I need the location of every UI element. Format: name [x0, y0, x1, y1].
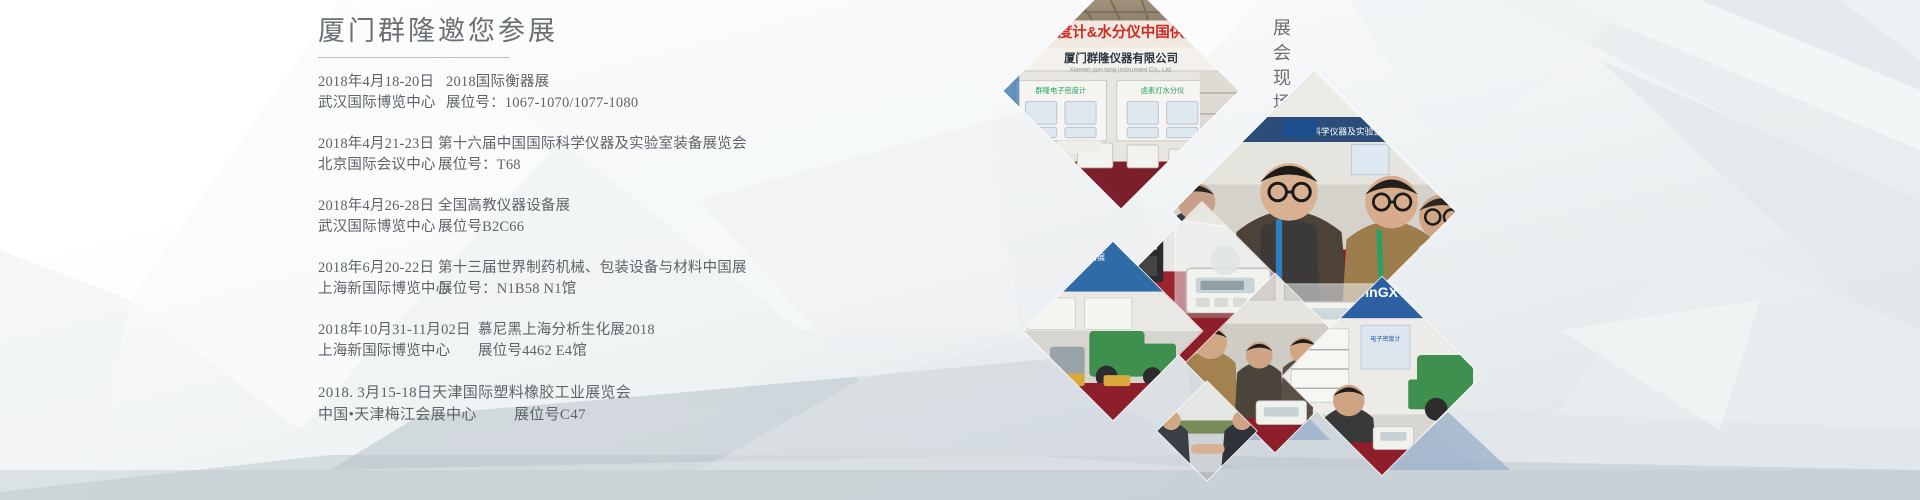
event-date: 2018年4月21-23日 [318, 134, 438, 155]
event-row-bottom: 武汉国际博览中心 展位号B2C66 [318, 217, 1078, 238]
event-headline: 2018. 3月15-18日天津国际塑料橡胶工业展览会 [318, 382, 1078, 404]
event-date: 2018年4月26-28日 [318, 196, 438, 217]
event-venue: 北京国际会议中心 [318, 155, 438, 176]
event-date: 2018年4月18-20日 [318, 72, 446, 93]
svg-text:群隆电子密度计: 群隆电子密度计 [1035, 86, 1086, 95]
event-booth: 展位号4462 E4馆 [478, 341, 587, 362]
event-booth: 展位号：1067-1070/1077-1080 [446, 93, 638, 114]
svg-text:卤素灯水分仪: 卤素灯水分仪 [1141, 86, 1185, 95]
svg-text:厦门群隆仪器有限公司: 厦门群隆仪器有限公司 [1064, 51, 1178, 65]
title-underline [318, 57, 510, 58]
event-booth: 展位号：T68 [438, 155, 521, 176]
event-name: 第十六届中国国际科学仪器及实验室装备展览会 [438, 134, 747, 155]
photo-booth-banner: 密度计&水分仪中国供应 厦门群隆仪器有限公司 Xiamen qun long I… [1004, 0, 1239, 208]
svg-text:Xiamen qun long Instrument Co.: Xiamen qun long Instrument Co., Ltd. [1069, 66, 1172, 73]
event-row-bottom: 北京国际会议中心 展位号：T68 [318, 155, 1078, 176]
event-row-top: 2018年6月20-22日 第十三届世界制药机械、包装设备与材料中国展 [318, 258, 1078, 279]
event-item: 2018. 3月15-18日天津国际塑料橡胶工业展览会 中国•天津梅江会展中心 … [318, 382, 1078, 426]
event-venue: 上海新国际博览中心 [318, 341, 478, 362]
event-row-top: 2018年4月21-23日 第十六届中国国际科学仪器及实验室装备展览会 [318, 134, 1078, 155]
event-booth: 展位号C47 [514, 404, 586, 426]
event-item: 2018年4月26-28日 全国高教仪器设备展 武汉国际博览中心 展位号B2C6… [318, 196, 1078, 238]
svg-text:仪器设备展: 仪器设备展 [1066, 252, 1105, 262]
event-list-panel: 厦门群隆邀您参展 2018年4月18-20日 2018国际衡器展 武汉国际博览中… [318, 18, 1078, 488]
event-item: 2018年6月20-22日 第十三届世界制药机械、包装设备与材料中国展 上海新国… [318, 258, 1078, 300]
event-row-top: 2018年4月26-28日 全国高教仪器设备展 [318, 196, 1078, 217]
event-row-top: 2018年4月18-20日 2018国际衡器展 [318, 72, 1078, 93]
banner-stage: 厦门群隆邀您参展 2018年4月18-20日 2018国际衡器展 武汉国际博览中… [0, 0, 1920, 500]
event-name: 第十三届世界制药机械、包装设备与材料中国展 [438, 258, 747, 279]
event-item: 2018年10月31-11月02日 慕尼黑上海分析生化展2018 上海新国际博览… [318, 320, 1078, 362]
event-row-top: 2018年10月31-11月02日 慕尼黑上海分析生化展2018 [318, 320, 1078, 341]
event-venue: 武汉国际博览中心 [318, 93, 446, 114]
event-booth: 展位号：N1B58 N1馆 [438, 279, 576, 300]
event-venue: 中国•天津梅江会展中心 [318, 404, 514, 426]
event-row-bottom: 中国•天津梅江会展中心 展位号C47 [318, 404, 1078, 426]
event-row-bottom: 武汉国际博览中心 展位号：1067-1070/1077-1080 [318, 93, 1078, 114]
event-name: 2018国际衡器展 [446, 72, 549, 93]
event-date: 2018年10月31-11月02日 [318, 320, 478, 341]
event-name: 全国高教仪器设备展 [438, 196, 570, 217]
event-item: 2018年4月18-20日 2018国际衡器展 武汉国际博览中心 展位号：106… [318, 72, 1078, 114]
event-venue: 上海新国际博览中心 [318, 279, 438, 300]
event-row-bottom: 上海新国际博览中心 展位号：N1B58 N1馆 [318, 279, 1078, 300]
svg-text:电子密度计: 电子密度计 [1370, 335, 1401, 343]
svg-text:密度计&水分仪中国供应: 密度计&水分仪中国供应 [1043, 23, 1199, 41]
event-venue: 武汉国际博览中心 [318, 217, 438, 238]
event-name: 慕尼黑上海分析生化展2018 [478, 320, 655, 341]
photo-collage: 密度计&水分仪中国供应 厦门群隆仪器有限公司 Xiamen qun long I… [1030, 0, 1490, 500]
event-booth: 展位号B2C66 [438, 217, 524, 238]
page-title: 厦门群隆邀您参展 [318, 18, 1078, 45]
photo-diamond-booth-banner[interactable]: 密度计&水分仪中国供应 厦门群隆仪器有限公司 Xiamen qun long I… [1004, 0, 1239, 208]
event-row-bottom: 上海新国际博览中心 展位号4462 E4馆 [318, 341, 1078, 362]
event-item: 2018年4月21-23日 第十六届中国国际科学仪器及实验室装备展览会 北京国际… [318, 134, 1078, 176]
event-date: 2018年6月20-22日 [318, 258, 438, 279]
